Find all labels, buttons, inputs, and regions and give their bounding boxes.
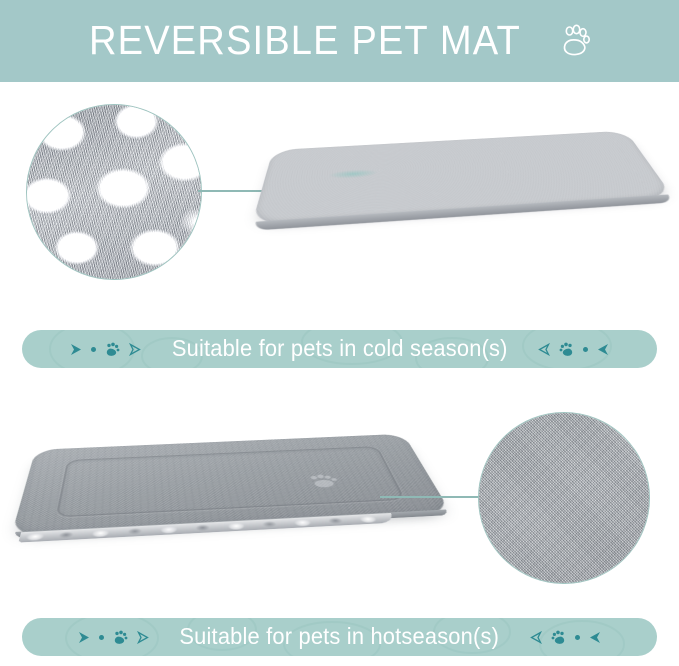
dot-icon [99, 635, 104, 640]
page-title: REVERSIBLE PET MAT [89, 20, 521, 61]
fabric-closeup-oxford-inset [478, 412, 650, 584]
fleece-texture [26, 104, 202, 280]
banner-decorations-right [538, 342, 609, 357]
chevron-left-solid-icon [597, 343, 609, 356]
feature-banner-text: Suitable for pets in hotseason(s) [180, 625, 500, 650]
chevron-right-hollow-icon [137, 631, 149, 644]
paw-print-icon [560, 24, 590, 56]
fabric-closeup-fleece-inset [26, 104, 202, 280]
paw-print-icon [559, 342, 574, 357]
chevron-right-hollow-icon [129, 343, 141, 356]
callout-connector-line [380, 496, 484, 498]
banner-decorations-left [78, 630, 149, 645]
pebble-highlight [328, 169, 377, 180]
feature-banner-cold: Suitable for pets in cold season(s) [22, 330, 657, 368]
feature-banner-text: Suitable for pets in cold season(s) [172, 337, 508, 362]
dot-icon [575, 635, 580, 640]
header-inner: REVERSIBLE PET MAT [89, 20, 589, 61]
inner-seam-border [56, 446, 406, 517]
paw-print-icon [551, 630, 566, 645]
oxford-texture [478, 412, 650, 584]
chevron-right-solid-icon [78, 631, 90, 644]
dot-icon [583, 347, 588, 352]
banner-decorations-left [70, 342, 141, 357]
chevron-left-hollow-icon [530, 631, 542, 644]
dot-icon [91, 347, 96, 352]
product-stage-cold [0, 82, 679, 312]
paw-print-icon [113, 630, 128, 645]
product-stage-hot [0, 388, 679, 610]
chevron-left-hollow-icon [538, 343, 550, 356]
pet-mat-pebble-side [252, 131, 673, 225]
banner-decorations-right [530, 630, 601, 645]
chevron-right-solid-icon [70, 343, 82, 356]
pet-mat-grey-side [28, 404, 430, 554]
header-band: REVERSIBLE PET MAT [0, 0, 679, 82]
feature-banner-hot: Suitable for pets in hotseason(s) [22, 618, 657, 656]
embroidered-paw-logo [304, 473, 343, 489]
chevron-left-solid-icon [589, 631, 601, 644]
paw-print-icon [105, 342, 120, 357]
